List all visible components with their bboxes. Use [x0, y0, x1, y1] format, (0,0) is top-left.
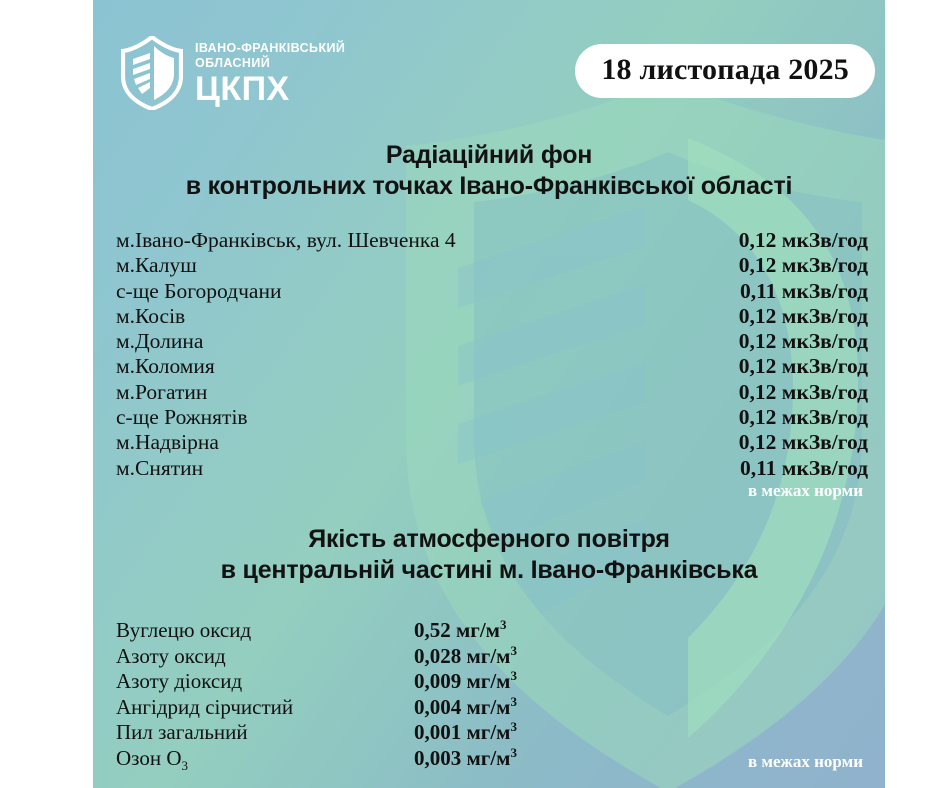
- radiation-location-name: м.Калуш: [116, 253, 661, 278]
- radiation-value: 0,12 мкЗв/год: [661, 405, 868, 430]
- logo-line-1: ІВАНО-ФРАНКІВСЬКИЙ: [195, 42, 345, 55]
- poster-canvas: ІВАНО-ФРАНКІВСЬКИЙ ОБЛАСНИЙ ЦКПХ 18 лист…: [93, 0, 885, 788]
- air-value-number: 0,009: [414, 669, 461, 693]
- air-value-number: 0,003: [414, 746, 461, 770]
- radiation-table-body: м.Івано-Франківськ, вул. Шевченка 40,12 …: [116, 228, 868, 481]
- radiation-row: м.Долина0,12 мкЗв/год: [116, 329, 868, 354]
- radiation-location-name: м.Коломия: [116, 354, 661, 379]
- air-value-number: 0,52: [414, 618, 451, 642]
- radiation-value: 0,12 мкЗв/год: [661, 228, 868, 253]
- air-value-unit: мг/м: [461, 746, 510, 770]
- radiation-row: м.Надвірна0,12 мкЗв/год: [116, 430, 868, 455]
- radiation-value: 0,12 мкЗв/год: [661, 354, 868, 379]
- radiation-table: м.Івано-Франківськ, вул. Шевченка 40,12 …: [116, 228, 868, 481]
- air-title-line-2: в центральній частині м. Івано-Франківсь…: [93, 555, 885, 586]
- air-pollutant-name: Ангідрид сірчистий: [116, 695, 414, 721]
- radiation-location-name: с-ще Богородчани: [116, 279, 661, 304]
- air-quality-row: Азоту діоксид0,009 мг/м3: [116, 669, 517, 695]
- air-quality-row: Пил загальний0,001 мг/м3: [116, 720, 517, 746]
- radiation-location-name: м.Рогатин: [116, 380, 661, 405]
- radiation-location-name: м.Косів: [116, 304, 661, 329]
- air-norm-note: в межах норми: [748, 752, 863, 772]
- radiation-row: м.Рогатин0,12 мкЗв/год: [116, 380, 868, 405]
- air-value-unit: мг/м: [461, 720, 510, 744]
- radiation-value: 0,11 мкЗв/год: [661, 456, 868, 481]
- air-section-title: Якість атмосферного повітря в центральні…: [93, 524, 885, 587]
- air-unit-exponent: 3: [510, 719, 517, 734]
- air-unit-exponent: 3: [500, 617, 507, 632]
- air-value-number: 0,028: [414, 644, 461, 668]
- air-pollutant-value: 0,004 мг/м3: [414, 695, 517, 721]
- radiation-section-title: Радіаційний фон в контрольних точках Іва…: [93, 140, 885, 203]
- air-quality-table: Вуглецю оксид0,52 мг/м3Азоту оксид0,028 …: [116, 618, 517, 772]
- radiation-value: 0,12 мкЗв/год: [661, 380, 868, 405]
- radiation-row: м.Косів0,12 мкЗв/год: [116, 304, 868, 329]
- air-pollutant-value: 0,028 мг/м3: [414, 644, 517, 670]
- air-quality-table-body: Вуглецю оксид0,52 мг/м3Азоту оксид0,028 …: [116, 618, 517, 772]
- air-quality-row: Вуглецю оксид0,52 мг/м3: [116, 618, 517, 644]
- logo-abbreviation: ЦКПХ: [195, 72, 345, 106]
- air-value-unit: мг/м: [451, 618, 500, 642]
- radiation-row: с-ще Рожнятів0,12 мкЗв/год: [116, 405, 868, 430]
- air-unit-exponent: 3: [510, 694, 517, 709]
- radiation-row: м.Коломия0,12 мкЗв/год: [116, 354, 868, 379]
- air-unit-exponent: 3: [510, 668, 517, 683]
- radiation-location-name: м.Снятин: [116, 456, 661, 481]
- radiation-title-line-2: в контрольних точках Івано-Франківської …: [93, 171, 885, 202]
- radiation-row: с-ще Богородчани0,11 мкЗв/год: [116, 279, 868, 304]
- air-pollutant-value: 0,001 мг/м3: [414, 720, 517, 746]
- radiation-value: 0,12 мкЗв/год: [661, 253, 868, 278]
- radiation-location-name: м.Івано-Франківськ, вул. Шевченка 4: [116, 228, 661, 253]
- radiation-location-name: с-ще Рожнятів: [116, 405, 661, 430]
- radiation-row: м.Калуш0,12 мкЗв/год: [116, 253, 868, 278]
- air-title-line-1: Якість атмосферного повітря: [308, 525, 670, 553]
- air-unit-exponent: 3: [510, 745, 517, 760]
- air-value-unit: мг/м: [461, 644, 510, 668]
- radiation-value: 0,12 мкЗв/год: [661, 430, 868, 455]
- air-pollutant-value: 0,003 мг/м3: [414, 746, 517, 772]
- organisation-logo: ІВАНО-ФРАНКІВСЬКИЙ ОБЛАСНИЙ ЦКПХ: [121, 36, 345, 110]
- shield-logo-icon: [121, 36, 183, 110]
- air-pollutant-value: 0,009 мг/м3: [414, 669, 517, 695]
- air-quality-row: Ангідрид сірчистий0,004 мг/м3: [116, 695, 517, 721]
- radiation-title-line-1: Радіаційний фон: [386, 141, 592, 169]
- radiation-value: 0,11 мкЗв/год: [661, 279, 868, 304]
- air-pollutant-subscript: 3: [182, 758, 189, 773]
- air-value-unit: мг/м: [461, 695, 510, 719]
- air-pollutant-name: Пил загальний: [116, 720, 414, 746]
- air-pollutant-name: Озон O3: [116, 746, 414, 772]
- radiation-value: 0,12 мкЗв/год: [661, 329, 868, 354]
- air-quality-row: Озон O30,003 мг/м3: [116, 746, 517, 772]
- air-value-number: 0,001: [414, 720, 461, 744]
- radiation-row: м.Івано-Франківськ, вул. Шевченка 40,12 …: [116, 228, 868, 253]
- air-value-unit: мг/м: [461, 669, 510, 693]
- air-quality-row: Азоту оксид0,028 мг/м3: [116, 644, 517, 670]
- radiation-location-name: м.Долина: [116, 329, 661, 354]
- air-pollutant-name: Азоту оксид: [116, 644, 414, 670]
- radiation-location-name: м.Надвірна: [116, 430, 661, 455]
- air-value-number: 0,004: [414, 695, 461, 719]
- air-pollutant-name: Вуглецю оксид: [116, 618, 414, 644]
- radiation-value: 0,12 мкЗв/год: [661, 304, 868, 329]
- radiation-row: м.Снятин0,11 мкЗв/год: [116, 456, 868, 481]
- air-pollutant-value: 0,52 мг/м3: [414, 618, 517, 644]
- logo-line-2: ОБЛАСНИЙ: [195, 57, 345, 70]
- radiation-norm-note: в межах норми: [748, 481, 863, 501]
- date-badge: 18 листопада 2025: [575, 44, 875, 98]
- air-pollutant-name: Азоту діоксид: [116, 669, 414, 695]
- air-unit-exponent: 3: [510, 643, 517, 658]
